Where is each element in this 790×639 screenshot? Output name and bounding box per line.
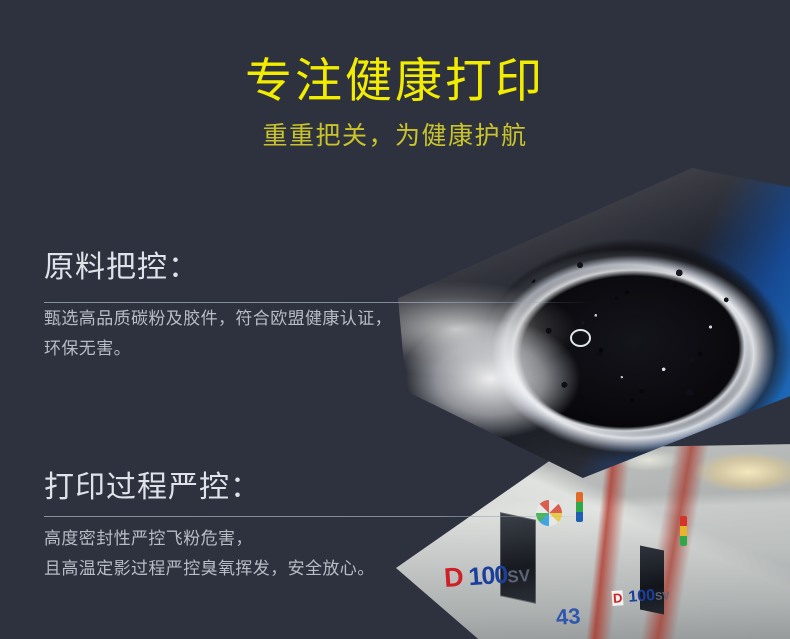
brand-suffix: SV xyxy=(655,590,670,603)
body-line: 环保无害。 xyxy=(44,334,514,364)
page-title: 专注健康打印 xyxy=(0,53,790,109)
brand-model: 100 xyxy=(628,587,656,606)
section-heading: 打印过程严控： xyxy=(44,468,514,508)
section-divider xyxy=(44,516,590,517)
banner-header: 专注健康打印 重重把关，为健康护航 xyxy=(0,0,790,175)
signal-tower-light-left xyxy=(576,492,583,522)
machine-number-label: 43 xyxy=(555,603,581,631)
section-heading: 原料把控： xyxy=(44,248,514,288)
body-line: 甄选高品质碳粉及胶件，符合欧盟健康认证， xyxy=(44,304,514,334)
section-raw-material-control: 原料把控： 甄选高品质碳粉及胶件，符合欧盟健康认证， 环保无害。 xyxy=(44,248,514,364)
brand-letter: D xyxy=(612,590,624,606)
color-wheel-icon xyxy=(536,500,562,526)
body-line: 高度密封性严控飞粉危害， xyxy=(44,524,514,554)
section-body: 甄选高品质碳粉及胶件，符合欧盟健康认证， 环保无害。 xyxy=(44,304,514,364)
body-line: 且高温定影过程严控臭氧挥发，安全放心。 xyxy=(44,554,514,584)
section-body: 高度密封性严控飞粉危害， 且高温定影过程严控臭氧挥发，安全放心。 xyxy=(44,524,514,584)
section-divider xyxy=(44,302,590,303)
section-printing-process-control: 打印过程严控： 高度密封性严控飞粉危害， 且高温定影过程严控臭氧挥发，安全放心。 xyxy=(44,468,514,584)
page-subtitle: 重重把关，为健康护航 xyxy=(0,120,790,152)
signal-tower-light-right xyxy=(680,516,687,546)
promo-banner: 专注健康打印 重重把关，为健康护航 D100SV 43 D100SV 原料把控：… xyxy=(0,0,790,639)
